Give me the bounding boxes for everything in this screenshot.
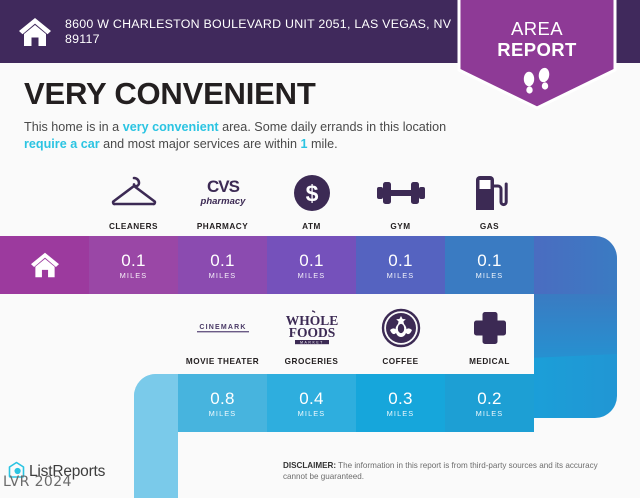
- distance-cell-cleaners: 0.1 MILES: [89, 236, 178, 294]
- distance-cell-gym: 0.1 MILES: [356, 236, 445, 294]
- summary-text: This home is in a very convenient area. …: [24, 119, 454, 152]
- blurb-part1: This home is in a: [24, 120, 123, 134]
- amenity-icon-row-2: CINEMARK MOVIE THEATER WHOLE FOODS MARKE…: [178, 305, 534, 366]
- distance-bar-row-1: 0.1 MILES 0.1 MILES 0.1 MILES 0.1 MILES …: [0, 236, 534, 294]
- amenity-medical: MEDICAL: [445, 305, 534, 366]
- blurb-part2: area. Some daily errands in this locatio…: [219, 120, 447, 134]
- svg-text:MARKET: MARKET: [300, 341, 324, 345]
- amenity-label: PHARMACY: [197, 222, 248, 231]
- amenity-label: ATM: [302, 222, 321, 231]
- distance-cell-groceries: 0.4 MILES: [267, 374, 356, 432]
- home-marker-cell: [0, 236, 89, 294]
- distance-unit: MILES: [298, 409, 326, 418]
- distance-unit: MILES: [209, 271, 237, 280]
- svg-text:CVS: CVS: [207, 177, 240, 196]
- whole-foods-logo: WHOLE FOODS MARKET: [282, 305, 342, 351]
- distance-value: 0.8: [210, 389, 235, 408]
- distance-bar-row-2: 0.8 MILES 0.4 MILES 0.3 MILES 0.2 MILES: [178, 374, 534, 432]
- distance-unit: MILES: [476, 271, 504, 280]
- gas-pump-icon: [472, 170, 508, 216]
- footprints-icon: [455, 66, 619, 96]
- disclaimer-label: DISCLAIMER:: [283, 461, 336, 470]
- distance-value: 0.3: [388, 389, 413, 408]
- amenity-atm: $ ATM: [267, 170, 356, 231]
- lvr-watermark: LVR 2024: [3, 474, 72, 490]
- badge-title-line2: REPORT: [455, 39, 619, 60]
- property-address: 8600 W CHARLESTON BOULEVARD UNIT 2051, L…: [65, 17, 457, 47]
- blurb-highlight-convenience: very convenient: [123, 120, 219, 134]
- amenity-label: MOVIE THEATER: [186, 357, 259, 366]
- badge-title-line1: AREA: [455, 18, 619, 39]
- amenity-icon-row-1: CLEANERS CVS pharmacy PHARMACY $ ATM: [89, 170, 534, 231]
- distance-value: 0.1: [477, 251, 502, 270]
- starbucks-logo: [381, 305, 421, 351]
- amenity-pharmacy: CVS pharmacy PHARMACY: [178, 170, 267, 231]
- distance-unit: MILES: [387, 409, 415, 418]
- amenity-label: MEDICAL: [469, 357, 510, 366]
- distance-cell-movie-theater: 0.8 MILES: [178, 374, 267, 432]
- svg-text:$: $: [305, 181, 318, 207]
- distance-value: 0.1: [121, 251, 146, 270]
- cvs-pharmacy-logo: CVS pharmacy: [192, 170, 254, 216]
- svg-text:CINEMARK: CINEMARK: [199, 324, 246, 331]
- amenity-movie-theater: CINEMARK MOVIE THEATER: [178, 305, 267, 366]
- amenity-label: GROCERIES: [285, 357, 339, 366]
- distance-unit: MILES: [298, 271, 326, 280]
- amenity-coffee: COFFEE: [356, 305, 445, 366]
- distance-cell-pharmacy: 0.1 MILES: [178, 236, 267, 294]
- cinemark-logo: CINEMARK: [191, 305, 255, 351]
- disclaimer: DISCLAIMER: The information in this repo…: [283, 460, 613, 482]
- amenity-label: COFFEE: [382, 357, 418, 366]
- distance-value: 0.1: [210, 251, 235, 270]
- blurb-highlight-car: require a car: [24, 137, 100, 151]
- distance-value: 0.2: [477, 389, 502, 408]
- distance-cell-gas: 0.1 MILES: [445, 236, 534, 294]
- dumbbell-icon: [376, 170, 426, 216]
- area-report-page: 8600 W CHARLESTON BOULEVARD UNIT 2051, L…: [0, 0, 640, 498]
- blurb-part3: and most major services are within: [100, 137, 301, 151]
- distance-cell-atm: 0.1 MILES: [267, 236, 356, 294]
- distance-value: 0.1: [299, 251, 324, 270]
- medical-cross-icon: [472, 305, 508, 351]
- amenity-gas: GAS: [445, 170, 534, 231]
- dollar-circle-icon: $: [292, 170, 332, 216]
- amenity-groceries: WHOLE FOODS MARKET GROCERIES: [267, 305, 356, 366]
- distance-unit: MILES: [476, 409, 504, 418]
- distance-value: 0.4: [299, 389, 324, 408]
- badge-title: AREA REPORT: [455, 18, 619, 60]
- distance-unit: MILES: [387, 271, 415, 280]
- distance-unit: MILES: [209, 409, 237, 418]
- distance-cell-coffee: 0.3 MILES: [356, 374, 445, 432]
- amenity-cleaners: CLEANERS: [89, 170, 178, 231]
- distance-value: 0.1: [388, 251, 413, 270]
- amenity-label: CLEANERS: [109, 222, 158, 231]
- amenity-label: GYM: [390, 222, 410, 231]
- page-title: VERY CONVENIENT: [24, 76, 316, 112]
- area-report-badge: AREA REPORT: [455, 0, 619, 112]
- blurb-highlight-miles: 1: [300, 137, 307, 151]
- home-icon: [18, 16, 52, 48]
- svg-text:FOODS: FOODS: [288, 325, 335, 340]
- distance-cell-medical: 0.2 MILES: [445, 374, 534, 432]
- clothes-hanger-icon: [111, 170, 157, 216]
- svg-text:pharmacy: pharmacy: [199, 196, 246, 207]
- amenity-label: GAS: [480, 222, 499, 231]
- distance-unit: MILES: [120, 271, 148, 280]
- amenity-gym: GYM: [356, 170, 445, 231]
- blurb-part4: mile.: [308, 137, 338, 151]
